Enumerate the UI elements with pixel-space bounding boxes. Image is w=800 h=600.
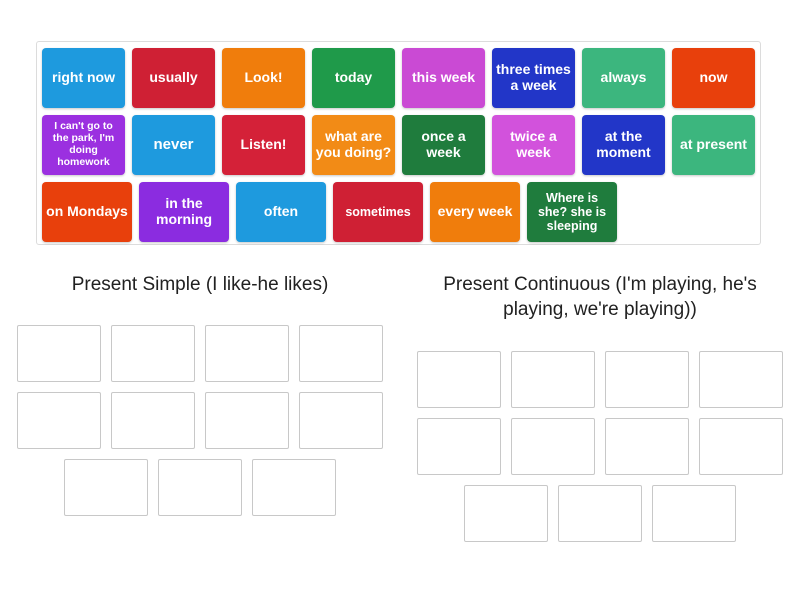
slot-row bbox=[417, 418, 783, 475]
word-tile[interactable]: Where is she? she is sleeping bbox=[527, 182, 617, 242]
slot-row bbox=[17, 325, 383, 382]
drop-slot[interactable] bbox=[558, 485, 642, 542]
drop-slot[interactable] bbox=[252, 459, 336, 516]
drop-slot[interactable] bbox=[652, 485, 736, 542]
word-tile[interactable]: at present bbox=[672, 115, 755, 175]
drop-slot[interactable] bbox=[605, 351, 689, 408]
drop-slot[interactable] bbox=[699, 418, 783, 475]
drop-slot[interactable] bbox=[111, 325, 195, 382]
drop-slot[interactable] bbox=[17, 392, 101, 449]
tile-pool-row-3: on Mondaysin the morningoftensometimesev… bbox=[42, 182, 755, 242]
word-tile[interactable]: at the moment bbox=[582, 115, 665, 175]
slot-row bbox=[464, 485, 736, 542]
drop-zones: Present Simple (I like-he likes) Present… bbox=[0, 272, 800, 542]
word-tile[interactable]: twice a week bbox=[492, 115, 575, 175]
drop-slot[interactable] bbox=[605, 418, 689, 475]
word-tile[interactable]: now bbox=[672, 48, 755, 108]
word-tile[interactable]: Look! bbox=[222, 48, 305, 108]
slot-grid-present-simple bbox=[17, 325, 383, 516]
word-tile[interactable]: once a week bbox=[402, 115, 485, 175]
drop-slot[interactable] bbox=[699, 351, 783, 408]
slot-grid-present-continuous bbox=[417, 351, 783, 542]
slot-row bbox=[417, 351, 783, 408]
drop-slot[interactable] bbox=[417, 418, 501, 475]
word-tile[interactable]: usually bbox=[132, 48, 215, 108]
word-tile[interactable]: every week bbox=[430, 182, 520, 242]
drop-slot[interactable] bbox=[299, 392, 383, 449]
word-tile[interactable]: this week bbox=[402, 48, 485, 108]
drop-slot[interactable] bbox=[17, 325, 101, 382]
word-tile[interactable]: three times a week bbox=[492, 48, 575, 108]
word-tile[interactable]: often bbox=[236, 182, 326, 242]
word-tile[interactable]: Listen! bbox=[222, 115, 305, 175]
drop-slot[interactable] bbox=[64, 459, 148, 516]
tile-pool-row-1: right nowusuallyLook!todaythis weekthree… bbox=[42, 48, 755, 108]
zone-title-present-continuous: Present Continuous (I'm playing, he's pl… bbox=[425, 272, 775, 323]
word-tile[interactable]: never bbox=[132, 115, 215, 175]
drop-slot[interactable] bbox=[417, 351, 501, 408]
word-tile[interactable]: always bbox=[582, 48, 665, 108]
drop-slot[interactable] bbox=[511, 418, 595, 475]
drop-slot[interactable] bbox=[299, 325, 383, 382]
word-tile[interactable]: what are you doing? bbox=[312, 115, 395, 175]
drop-slot[interactable] bbox=[205, 325, 289, 382]
drop-slot[interactable] bbox=[111, 392, 195, 449]
drop-slot[interactable] bbox=[205, 392, 289, 449]
word-tile[interactable]: I can't go to the park, I'm doing homewo… bbox=[42, 115, 125, 175]
tile-pool-row-2: I can't go to the park, I'm doing homewo… bbox=[42, 115, 755, 175]
word-tile[interactable]: in the morning bbox=[139, 182, 229, 242]
drop-slot[interactable] bbox=[464, 485, 548, 542]
drop-slot[interactable] bbox=[158, 459, 242, 516]
activity-page: right nowusuallyLook!todaythis weekthree… bbox=[0, 0, 800, 600]
drop-zone-present-simple[interactable]: Present Simple (I like-he likes) bbox=[0, 272, 400, 542]
drop-slot[interactable] bbox=[511, 351, 595, 408]
word-tile[interactable]: right now bbox=[42, 48, 125, 108]
word-tile[interactable]: sometimes bbox=[333, 182, 423, 242]
tile-pool: right nowusuallyLook!todaythis weekthree… bbox=[36, 41, 761, 245]
zone-title-present-simple: Present Simple (I like-he likes) bbox=[72, 272, 329, 297]
word-tile[interactable]: today bbox=[312, 48, 395, 108]
drop-zone-present-continuous[interactable]: Present Continuous (I'm playing, he's pl… bbox=[400, 272, 800, 542]
slot-row bbox=[64, 459, 336, 516]
slot-row bbox=[17, 392, 383, 449]
word-tile[interactable]: on Mondays bbox=[42, 182, 132, 242]
